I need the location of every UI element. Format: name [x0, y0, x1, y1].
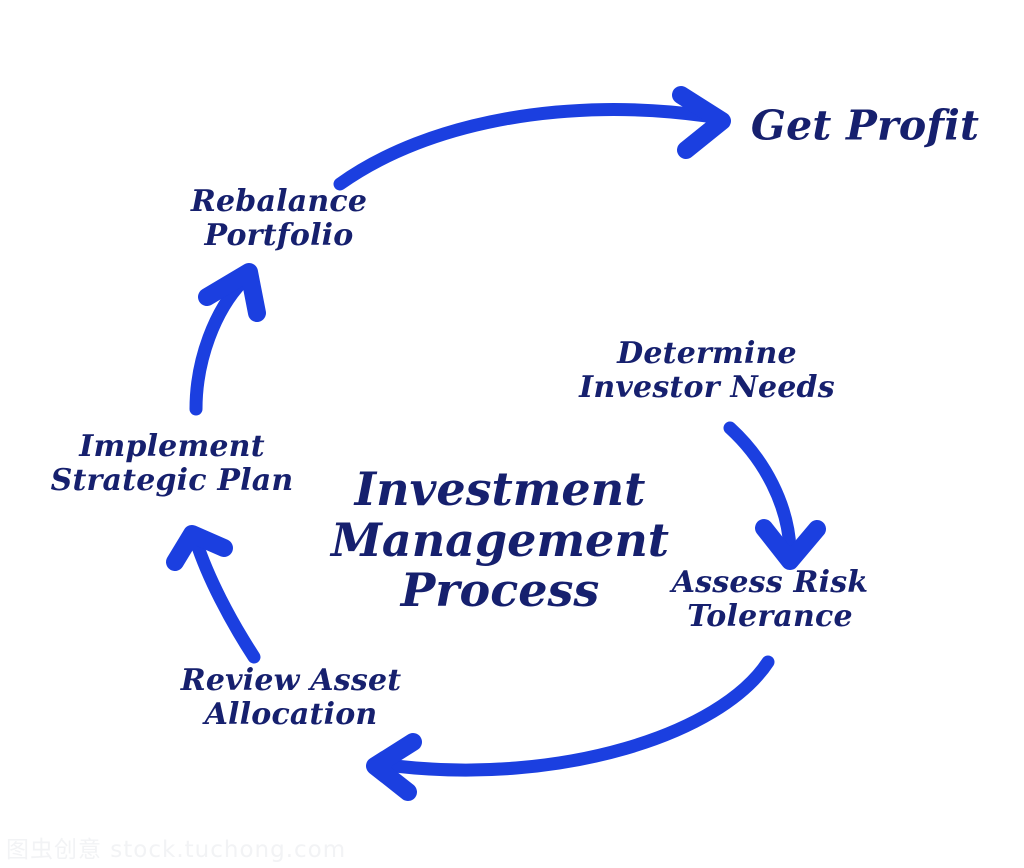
- node-label-implement-strategic-plan: ImplementStrategic Plan: [51, 430, 294, 498]
- node-label-line: Allocation: [181, 698, 402, 732]
- node-label-review-asset-allocation: Review AssetAllocation: [181, 664, 402, 732]
- center-title-line: Management: [331, 515, 669, 566]
- node-label-determine-investor-needs: DetermineInvestor Needs: [579, 337, 835, 405]
- arrow-assess-to-review: [395, 662, 768, 770]
- node-label-line: Assess Risk: [672, 566, 869, 600]
- diagram-canvas: DetermineInvestor NeedsAssess RiskTolera…: [0, 0, 1024, 868]
- node-label-line: Tolerance: [672, 600, 869, 634]
- center-title-line: Process: [331, 565, 669, 616]
- center-title-line: Investment: [331, 464, 669, 515]
- arrow-rebalance-to-get-profit: [340, 110, 706, 184]
- node-label-line: Review Asset: [181, 664, 402, 698]
- arrow-review-to-implement: [196, 541, 254, 657]
- node-label-line: Determine: [579, 337, 835, 371]
- node-label-line: Implement: [51, 430, 294, 464]
- arrowhead-rebalance-to-get-profit: [681, 95, 722, 150]
- node-label-get-profit: Get Profit: [751, 103, 979, 150]
- node-label-rebalance-portfolio: RebalancePortfolio: [191, 185, 367, 253]
- watermark: 图虫创意 stock.tuchong.com: [6, 830, 346, 864]
- node-label-line: Strategic Plan: [51, 464, 294, 498]
- arrowhead-implement-to-rebalance: [207, 272, 257, 313]
- node-label-line: Rebalance: [191, 185, 367, 219]
- node-label-assess-risk-tolerance: Assess RiskTolerance: [672, 566, 869, 634]
- node-label-line: Portfolio: [191, 219, 367, 253]
- node-label-line: Investor Needs: [579, 371, 835, 405]
- node-label-line: Get Profit: [751, 103, 979, 150]
- center-title: InvestmentManagementProcess: [331, 464, 669, 616]
